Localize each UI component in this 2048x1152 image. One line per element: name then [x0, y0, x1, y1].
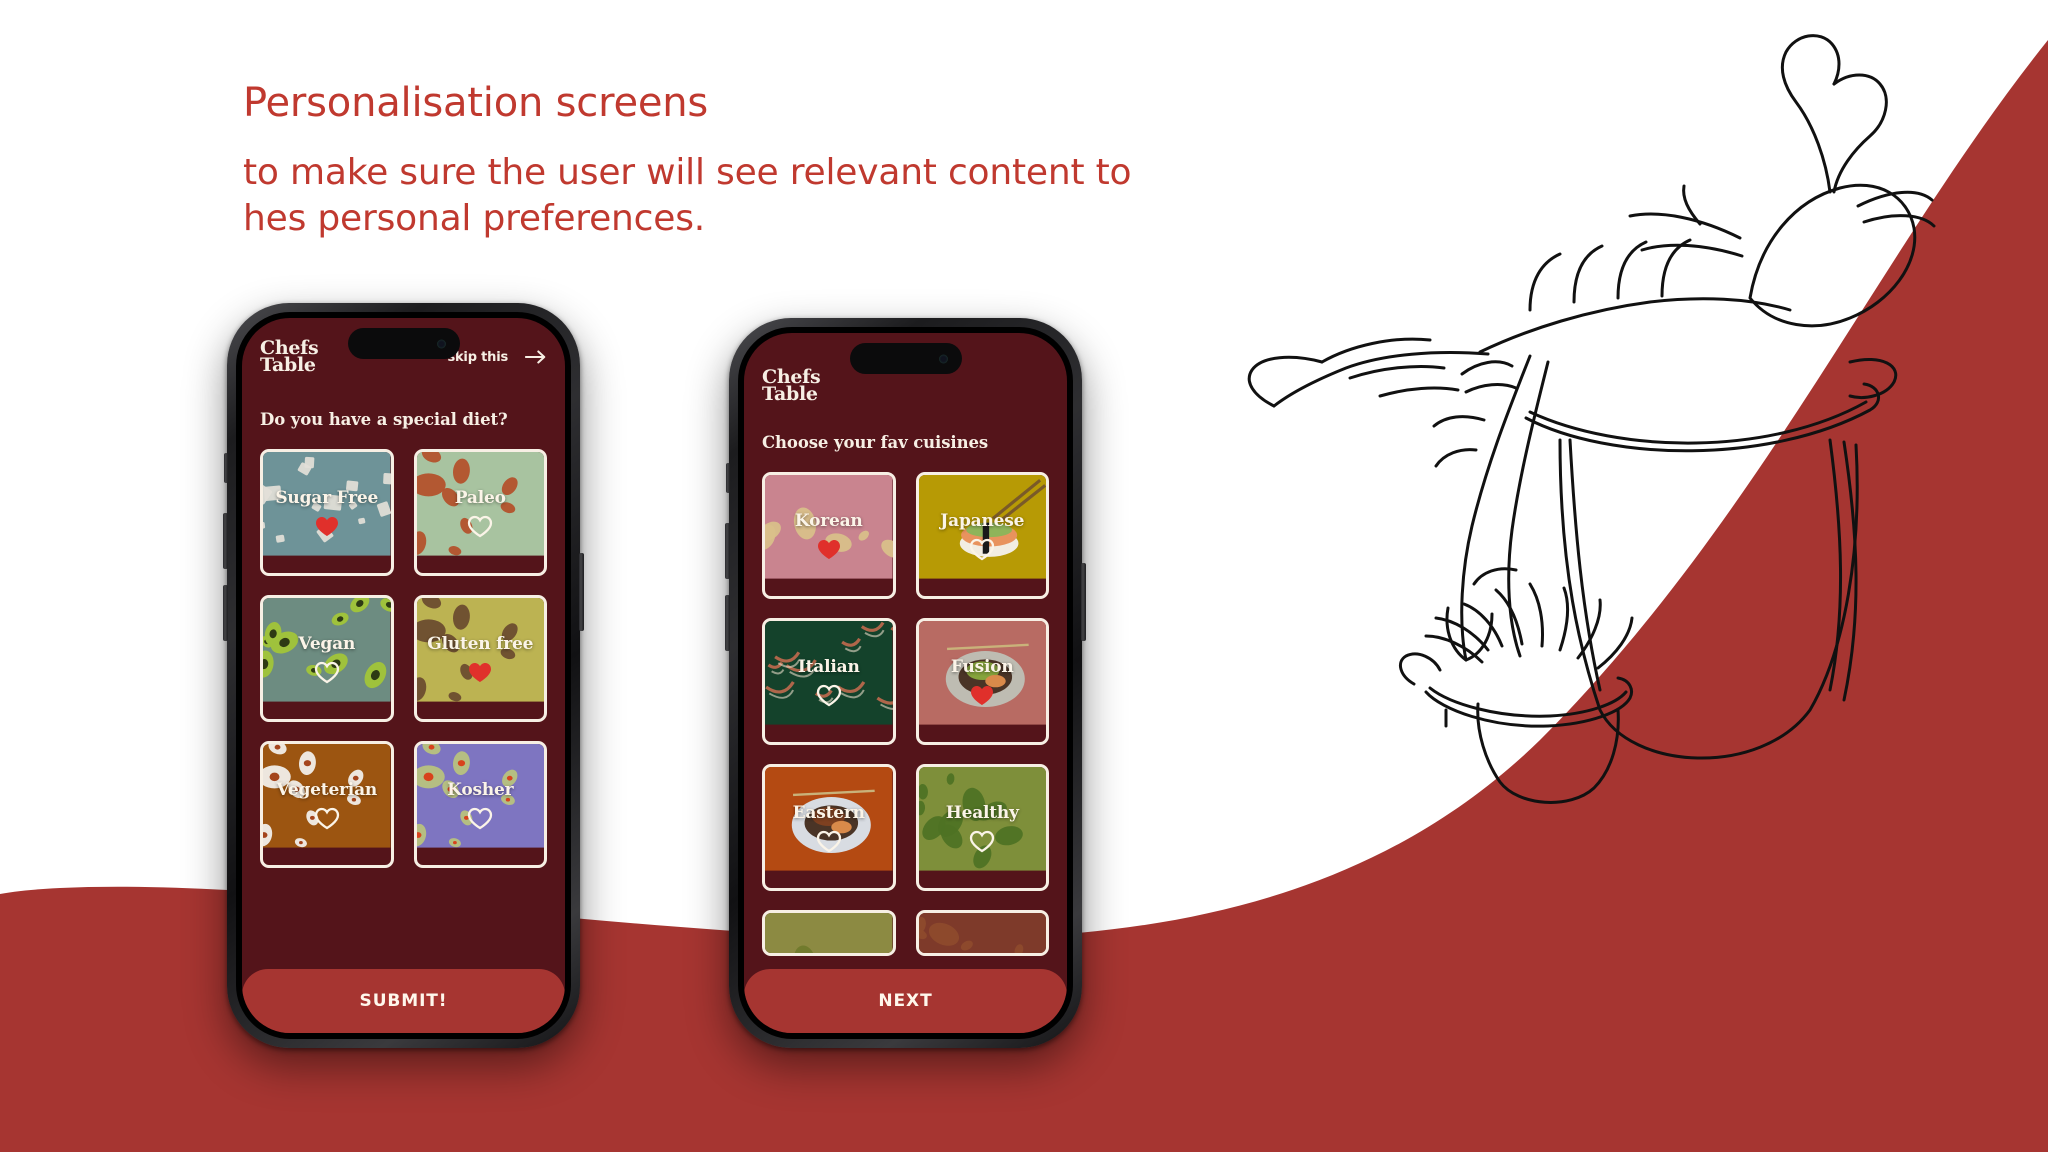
- screen-question-cuisine: Choose your fav cuisines: [762, 433, 1049, 452]
- app-logo: Chefs Table: [260, 340, 318, 375]
- volume-down-button[interactable]: [223, 585, 228, 641]
- app-logo: Chefs Table: [762, 355, 820, 404]
- heart-outline-icon[interactable]: [314, 661, 340, 684]
- heart-outline-icon[interactable]: [816, 684, 842, 707]
- option-card[interactable]: Sugar Free: [260, 449, 394, 576]
- heading-block: Personalisation screens to make sure the…: [243, 78, 1343, 242]
- option-card-label: Gluten free: [427, 634, 533, 654]
- dynamic-island: [850, 343, 962, 374]
- heart-filled-icon[interactable]: [467, 661, 493, 684]
- heart-outline-icon[interactable]: [467, 515, 493, 538]
- option-card[interactable]: Eastern: [762, 764, 896, 891]
- favorite-toggle[interactable]: [467, 807, 493, 830]
- heart-outline-icon[interactable]: [969, 830, 995, 853]
- page-subtitle: to make sure the user will see relevant …: [243, 150, 1203, 242]
- volume-up-button[interactable]: [725, 523, 730, 579]
- option-card[interactable]: Kosher: [414, 741, 548, 868]
- power-button[interactable]: [579, 553, 584, 631]
- option-card-label: Italian: [798, 657, 860, 677]
- option-card[interactable]: Vegan: [260, 595, 394, 722]
- favorite-toggle[interactable]: [816, 684, 842, 707]
- phone-screen-diet: Chefs Table skip this Do you have a spec…: [242, 318, 565, 1033]
- option-card[interactable]: Vegeterian: [260, 741, 394, 868]
- submit-button-label: SUBMIT!: [360, 991, 448, 1011]
- logo-line-2: Table: [260, 357, 318, 374]
- option-card[interactable]: Healthy: [916, 764, 1050, 891]
- next-button[interactable]: NEXT: [744, 969, 1067, 1033]
- page-title: Personalisation screens: [243, 78, 1343, 128]
- option-card-label: Vegan: [298, 634, 355, 654]
- cuisine-options-grid: Korean Japanese Italian Fusion: [762, 472, 1049, 956]
- front-camera-icon: [437, 339, 446, 348]
- option-card[interactable]: Korean: [762, 472, 896, 599]
- option-card-label: Sugar Free: [275, 488, 378, 508]
- card-food-texture: [919, 913, 1047, 956]
- favorite-toggle[interactable]: [816, 538, 842, 561]
- diet-options-grid: Sugar Free Paleo Vegan Gluten free Veget…: [260, 449, 547, 868]
- option-card[interactable]: Paleo: [414, 449, 548, 576]
- favorite-toggle[interactable]: [314, 807, 340, 830]
- favorite-toggle[interactable]: [969, 830, 995, 853]
- phone-mockup-diet: Chefs Table skip this Do you have a spec…: [227, 303, 580, 1048]
- lobster-line-drawing: [1230, 10, 2030, 890]
- option-card-label: Healthy: [946, 803, 1019, 823]
- option-card[interactable]: [762, 910, 896, 956]
- favorite-toggle[interactable]: [314, 515, 340, 538]
- front-camera-icon: [939, 354, 948, 363]
- heart-filled-icon[interactable]: [314, 515, 340, 538]
- heart-outline-icon[interactable]: [816, 830, 842, 853]
- logo-line-2: Table: [762, 386, 820, 403]
- heart-filled-icon[interactable]: [969, 684, 995, 707]
- phone-inner-bezel: Chefs Table skip this Do you have a spec…: [236, 312, 571, 1039]
- option-card-label: Paleo: [455, 488, 506, 508]
- phone-mockup-cuisine: Chefs Table Choose your fav cuisines Kor…: [729, 318, 1082, 1048]
- lobster-illustration-svg: [1230, 10, 2030, 890]
- favorite-toggle[interactable]: [816, 830, 842, 853]
- option-card[interactable]: Italian: [762, 618, 896, 745]
- submit-button[interactable]: SUBMIT!: [242, 969, 565, 1033]
- favorite-toggle[interactable]: [467, 515, 493, 538]
- heart-outline-icon[interactable]: [467, 807, 493, 830]
- phone-inner-bezel: Chefs Table Choose your fav cuisines Kor…: [738, 327, 1073, 1039]
- volume-down-button[interactable]: [725, 595, 730, 651]
- option-card-label: Fusion: [951, 657, 1014, 677]
- option-card-label: Kosher: [447, 780, 513, 800]
- phone-screen-cuisine: Chefs Table Choose your fav cuisines Kor…: [744, 333, 1067, 1033]
- heart-outline-icon[interactable]: [314, 807, 340, 830]
- option-card[interactable]: [916, 910, 1050, 956]
- silent-switch[interactable]: [726, 463, 730, 493]
- favorite-toggle[interactable]: [467, 661, 493, 684]
- next-button-label: NEXT: [878, 991, 932, 1011]
- silent-switch[interactable]: [224, 453, 228, 483]
- arrow-right-icon: [525, 349, 547, 365]
- heart-filled-icon[interactable]: [816, 538, 842, 561]
- skip-this-button[interactable]: skip this: [447, 340, 547, 365]
- option-card[interactable]: Fusion: [916, 618, 1050, 745]
- option-card[interactable]: Japanese: [916, 472, 1050, 599]
- option-card[interactable]: Gluten free: [414, 595, 548, 722]
- dynamic-island: [348, 328, 460, 359]
- option-card-label: Vegeterian: [276, 780, 377, 800]
- option-card-label: Eastern: [793, 803, 865, 823]
- favorite-toggle[interactable]: [314, 661, 340, 684]
- volume-up-button[interactable]: [223, 513, 228, 569]
- screen-question-diet: Do you have a special diet?: [260, 410, 547, 429]
- option-card-label: Japanese: [940, 511, 1024, 531]
- option-card-label: Korean: [795, 511, 863, 531]
- power-button[interactable]: [1081, 563, 1086, 641]
- card-food-texture: [765, 913, 893, 956]
- favorite-toggle[interactable]: [969, 684, 995, 707]
- heart-outline-icon[interactable]: [969, 538, 995, 561]
- favorite-toggle[interactable]: [969, 538, 995, 561]
